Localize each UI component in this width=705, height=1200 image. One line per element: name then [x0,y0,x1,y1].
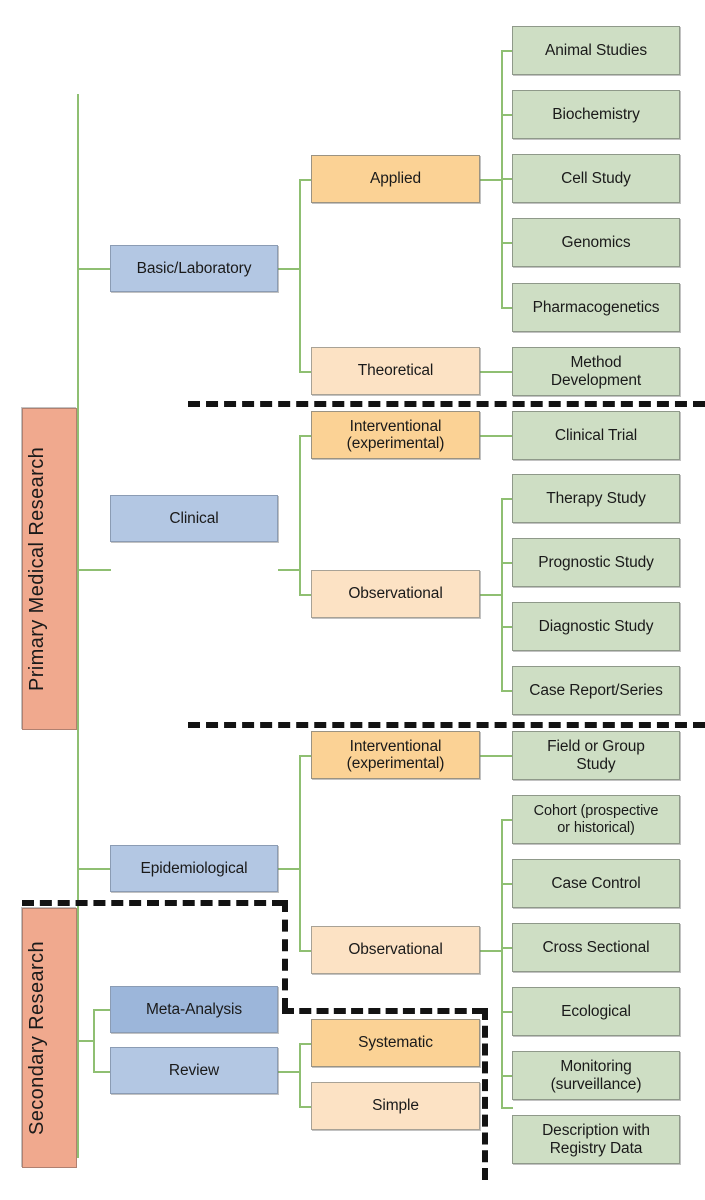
study-field-or-group-study-label: Field or GroupStudy [516,738,676,773]
study-monitoring[interactable]: Monitoring(surveillance) [512,1051,680,1100]
study-clinical-trial[interactable]: Clinical Trial [512,411,680,460]
study-method-development-label: MethodDevelopment [516,354,676,389]
study-genomics-label: Genomics [516,234,676,251]
method-applied-label: Applied [315,170,476,187]
connector-secondary-to-review [93,1071,111,1073]
study-field-or-group-study[interactable]: Field or GroupStudy [512,731,680,780]
method-epi-observational[interactable]: Observational [311,926,480,974]
connector-secondary-out [77,1040,94,1042]
root-primary-label: Primary Medical Research [26,447,73,691]
branch-review[interactable]: Review [110,1047,278,1094]
branch-basic-label: Basic/Laboratory [114,260,274,277]
root-secondary-research[interactable]: Secondary Research [22,908,77,1168]
method-clinical-observational[interactable]: Observational [311,570,480,618]
method-simple-label: Simple [315,1097,476,1114]
study-case-control[interactable]: Case Control [512,859,680,908]
branch-meta-analysis[interactable]: Meta-Analysis [110,986,278,1033]
study-cell-study[interactable]: Cell Study [512,154,680,203]
connector-clinical-vertical [299,435,301,595]
divider-basic-clinical [188,401,705,407]
branch-epidemiological[interactable]: Epidemiological [110,845,278,892]
study-ecological-label: Ecological [516,1003,676,1020]
study-cross-sectional-label: Cross Sectional [516,939,676,956]
study-diagnostic-study[interactable]: Diagnostic Study [512,602,680,651]
diagram-canvas: Primary Medical Research Secondary Resea… [0,0,705,1200]
connector-primary-to-clinical [77,569,111,571]
study-animal-studies[interactable]: Animal Studies [512,26,680,75]
study-cohort[interactable]: Cohort (prospectiveor historical) [512,795,680,844]
connector-epi-out [278,868,300,870]
connector-theoretical-to-method [480,371,513,373]
connector-secondary-to-meta [93,1009,111,1011]
divider-secondary-left-vertical [282,900,288,1010]
connector-clinical-observational-vertical [501,498,503,691]
connector-primary-spine [77,94,79,1158]
study-case-report-series-label: Case Report/Series [516,682,676,699]
study-clinical-trial-label: Clinical Trial [516,427,676,444]
divider-secondary-top [22,900,284,906]
connector-clinical-observational-out [480,594,502,596]
study-description-registry-label: Description withRegistry Data [516,1122,676,1157]
method-clinical-observational-label: Observational [315,585,476,602]
study-biochemistry[interactable]: Biochemistry [512,90,680,139]
connector-clinical-interventional-to-trial [480,435,513,437]
connector-applied-out [480,179,502,181]
connector-secondary-branch-vertical [93,1009,95,1071]
connector-epi-observational-vertical [501,819,503,1107]
study-cross-sectional[interactable]: Cross Sectional [512,923,680,972]
method-systematic-label: Systematic [315,1034,476,1051]
connector-primary-to-basic [77,268,111,270]
method-theoretical-label: Theoretical [315,362,476,379]
study-animal-studies-label: Animal Studies [516,42,676,59]
method-clinical-interventional-label: Interventional(experimental) [315,418,476,453]
divider-secondary-middle [282,1008,484,1014]
root-secondary-label: Secondary Research [26,941,73,1135]
divider-clinical-epidemiological [188,722,705,728]
study-therapy-study-label: Therapy Study [516,490,676,507]
branch-epidemiological-label: Epidemiological [114,860,274,877]
branch-clinical-label: Clinical [114,510,274,527]
connector-epi-vertical [299,755,301,951]
study-method-development[interactable]: MethodDevelopment [512,347,680,396]
connector-eo-to-description [501,1107,513,1109]
study-pharmacogenetics-label: Pharmacogenetics [516,299,676,316]
study-genomics[interactable]: Genomics [512,218,680,267]
connector-basic-out [278,268,300,270]
connector-epi-observational-out [480,950,502,952]
study-prognostic-study-label: Prognostic Study [516,554,676,571]
study-case-report-series[interactable]: Case Report/Series [512,666,680,715]
connector-review-out [278,1071,300,1073]
method-systematic[interactable]: Systematic [311,1019,480,1067]
connector-epi-interventional-to-field [480,755,513,757]
method-epi-interventional[interactable]: Interventional(experimental) [311,731,480,779]
method-clinical-interventional[interactable]: Interventional(experimental) [311,411,480,459]
method-epi-observational-label: Observational [315,941,476,958]
study-biochemistry-label: Biochemistry [516,106,676,123]
branch-clinical[interactable]: Clinical [110,495,278,542]
branch-meta-analysis-label: Meta-Analysis [114,1001,274,1018]
study-therapy-study[interactable]: Therapy Study [512,474,680,523]
branch-basic-laboratory[interactable]: Basic/Laboratory [110,245,278,292]
branch-review-label: Review [114,1062,274,1079]
root-primary-medical-research[interactable]: Primary Medical Research [22,408,77,730]
method-epi-interventional-label: Interventional(experimental) [315,738,476,773]
connector-basic-vertical [299,179,301,372]
connector-primary-to-epi [77,868,111,870]
study-diagnostic-study-label: Diagnostic Study [516,618,676,635]
study-description-registry[interactable]: Description withRegistry Data [512,1115,680,1164]
divider-secondary-right-vertical [482,1008,488,1180]
study-cell-study-label: Cell Study [516,170,676,187]
study-pharmacogenetics[interactable]: Pharmacogenetics [512,283,680,332]
study-cohort-label: Cohort (prospectiveor historical) [516,803,676,835]
connector-review-vertical [299,1043,301,1107]
connector-clinical-out [278,569,300,571]
method-simple[interactable]: Simple [311,1082,480,1130]
study-case-control-label: Case Control [516,875,676,892]
method-applied[interactable]: Applied [311,155,480,203]
method-theoretical[interactable]: Theoretical [311,347,480,395]
study-monitoring-label: Monitoring(surveillance) [516,1058,676,1093]
study-prognostic-study[interactable]: Prognostic Study [512,538,680,587]
study-ecological[interactable]: Ecological [512,987,680,1036]
